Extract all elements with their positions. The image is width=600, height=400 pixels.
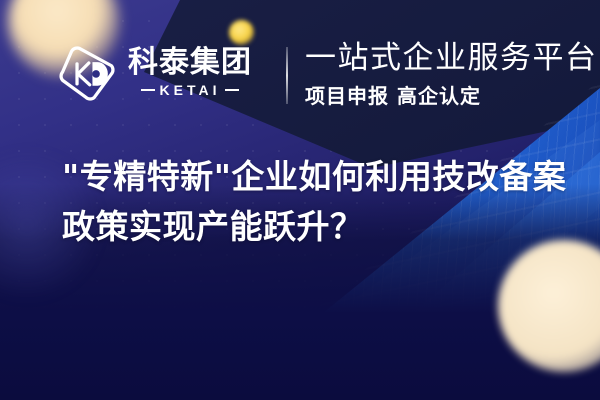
brand-name-en: KETAI — [160, 82, 221, 98]
tagline-main: 一站式企业服务平台 — [305, 42, 598, 75]
ketai-diamond-monogram-icon — [58, 44, 116, 102]
banner-content: 科泰集团 KETAI 一站式企业服务平台 项目申报 高企认定 "专精特新"企业如… — [0, 0, 600, 400]
brand-name-en-row: KETAI — [141, 82, 240, 98]
tagline-block: 一站式企业服务平台 项目申报 高企认定 — [305, 42, 598, 109]
promo-banner: 科泰集团 KETAI 一站式企业服务平台 项目申报 高企认定 "专精特新"企业如… — [0, 0, 600, 400]
dash-left-icon — [141, 89, 155, 92]
tagline-sub: 项目申报 高企认定 — [305, 80, 598, 109]
brand-wordmark: 科泰集团 KETAI — [128, 48, 252, 98]
vertical-divider — [286, 47, 288, 104]
brand-name-cn: 科泰集团 — [128, 48, 252, 79]
brand-logo[interactable]: 科泰集团 KETAI — [58, 44, 252, 102]
dash-right-icon — [225, 89, 239, 92]
headline-title: "专精特新"企业如何利用技改备案政策实现产能跃升？ — [62, 152, 572, 252]
